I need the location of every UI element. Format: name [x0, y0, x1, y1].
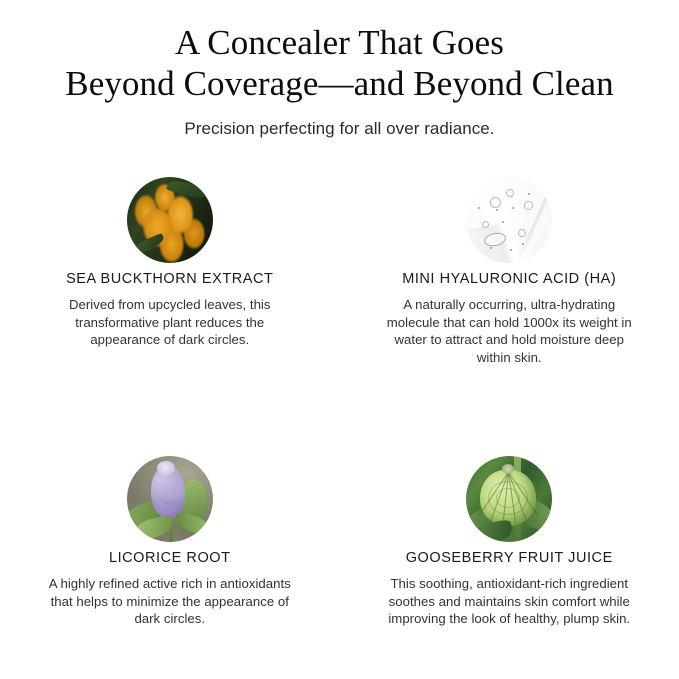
ingredient-thumb-wrap	[22, 444, 318, 544]
ingredient-thumb-wrap	[362, 165, 658, 265]
gooseberry-image	[466, 456, 552, 542]
ingredient-grid: SEA BUCKTHORN EXTRACT Derived from upcyc…	[0, 165, 679, 628]
ingredient-thumb-wrap	[22, 165, 318, 265]
leaf-shape	[130, 233, 166, 256]
ingredient-card-hyaluronic-acid: MINI HYALURONIC ACID (HA) A naturally oc…	[340, 165, 679, 366]
ingredient-card-gooseberry: GOOSEBERRY FRUIT JUICE This soothing, an…	[340, 366, 679, 628]
ingredient-card-licorice-root: LICORICE ROOT A highly refined active ri…	[0, 366, 340, 628]
ingredient-benefits-page: A Concealer That Goes Beyond Coverage—an…	[0, 0, 679, 679]
speck-shape	[496, 209, 498, 211]
ingredient-title: GOOSEBERRY FRUIT JUICE	[362, 549, 658, 567]
page-title: A Concealer That Goes Beyond Coverage—an…	[0, 22, 679, 104]
page-title-line-2: Beyond Coverage—and Beyond Clean	[0, 63, 679, 104]
licorice-root-image	[127, 456, 213, 542]
ingredient-description: This soothing, antioxidant-rich ingredie…	[384, 575, 634, 628]
bubble-shape	[490, 197, 501, 208]
flower-spike-shape	[151, 466, 185, 518]
hyaluronic-acid-image	[466, 177, 552, 263]
ingredient-title: LICORICE ROOT	[22, 549, 318, 567]
ingredient-description: A naturally occurring, ultra-hydrating m…	[384, 296, 634, 366]
ingredient-title: SEA BUCKTHORN EXTRACT	[22, 270, 318, 288]
page-header: A Concealer That Goes Beyond Coverage—an…	[0, 0, 679, 140]
page-title-line-1: A Concealer That Goes	[0, 22, 679, 63]
ingredient-description: Derived from upcycled leaves, this trans…	[45, 296, 295, 349]
ingredient-card-sea-buckthorn: SEA BUCKTHORN EXTRACT Derived from upcyc…	[0, 165, 340, 366]
sea-buckthorn-image	[127, 177, 213, 263]
vein-ring	[488, 481, 528, 515]
ingredient-description: A highly refined active rich in antioxid…	[45, 575, 295, 628]
husk-shape	[480, 470, 536, 526]
ingredient-title: MINI HYALURONIC ACID (HA)	[362, 270, 658, 288]
gel-fold-shape	[466, 216, 552, 263]
page-subtitle: Precision perfecting for all over radian…	[0, 118, 679, 140]
ingredient-thumb-wrap	[362, 444, 658, 544]
speck-shape	[478, 207, 480, 209]
leaf-shape	[166, 177, 210, 202]
